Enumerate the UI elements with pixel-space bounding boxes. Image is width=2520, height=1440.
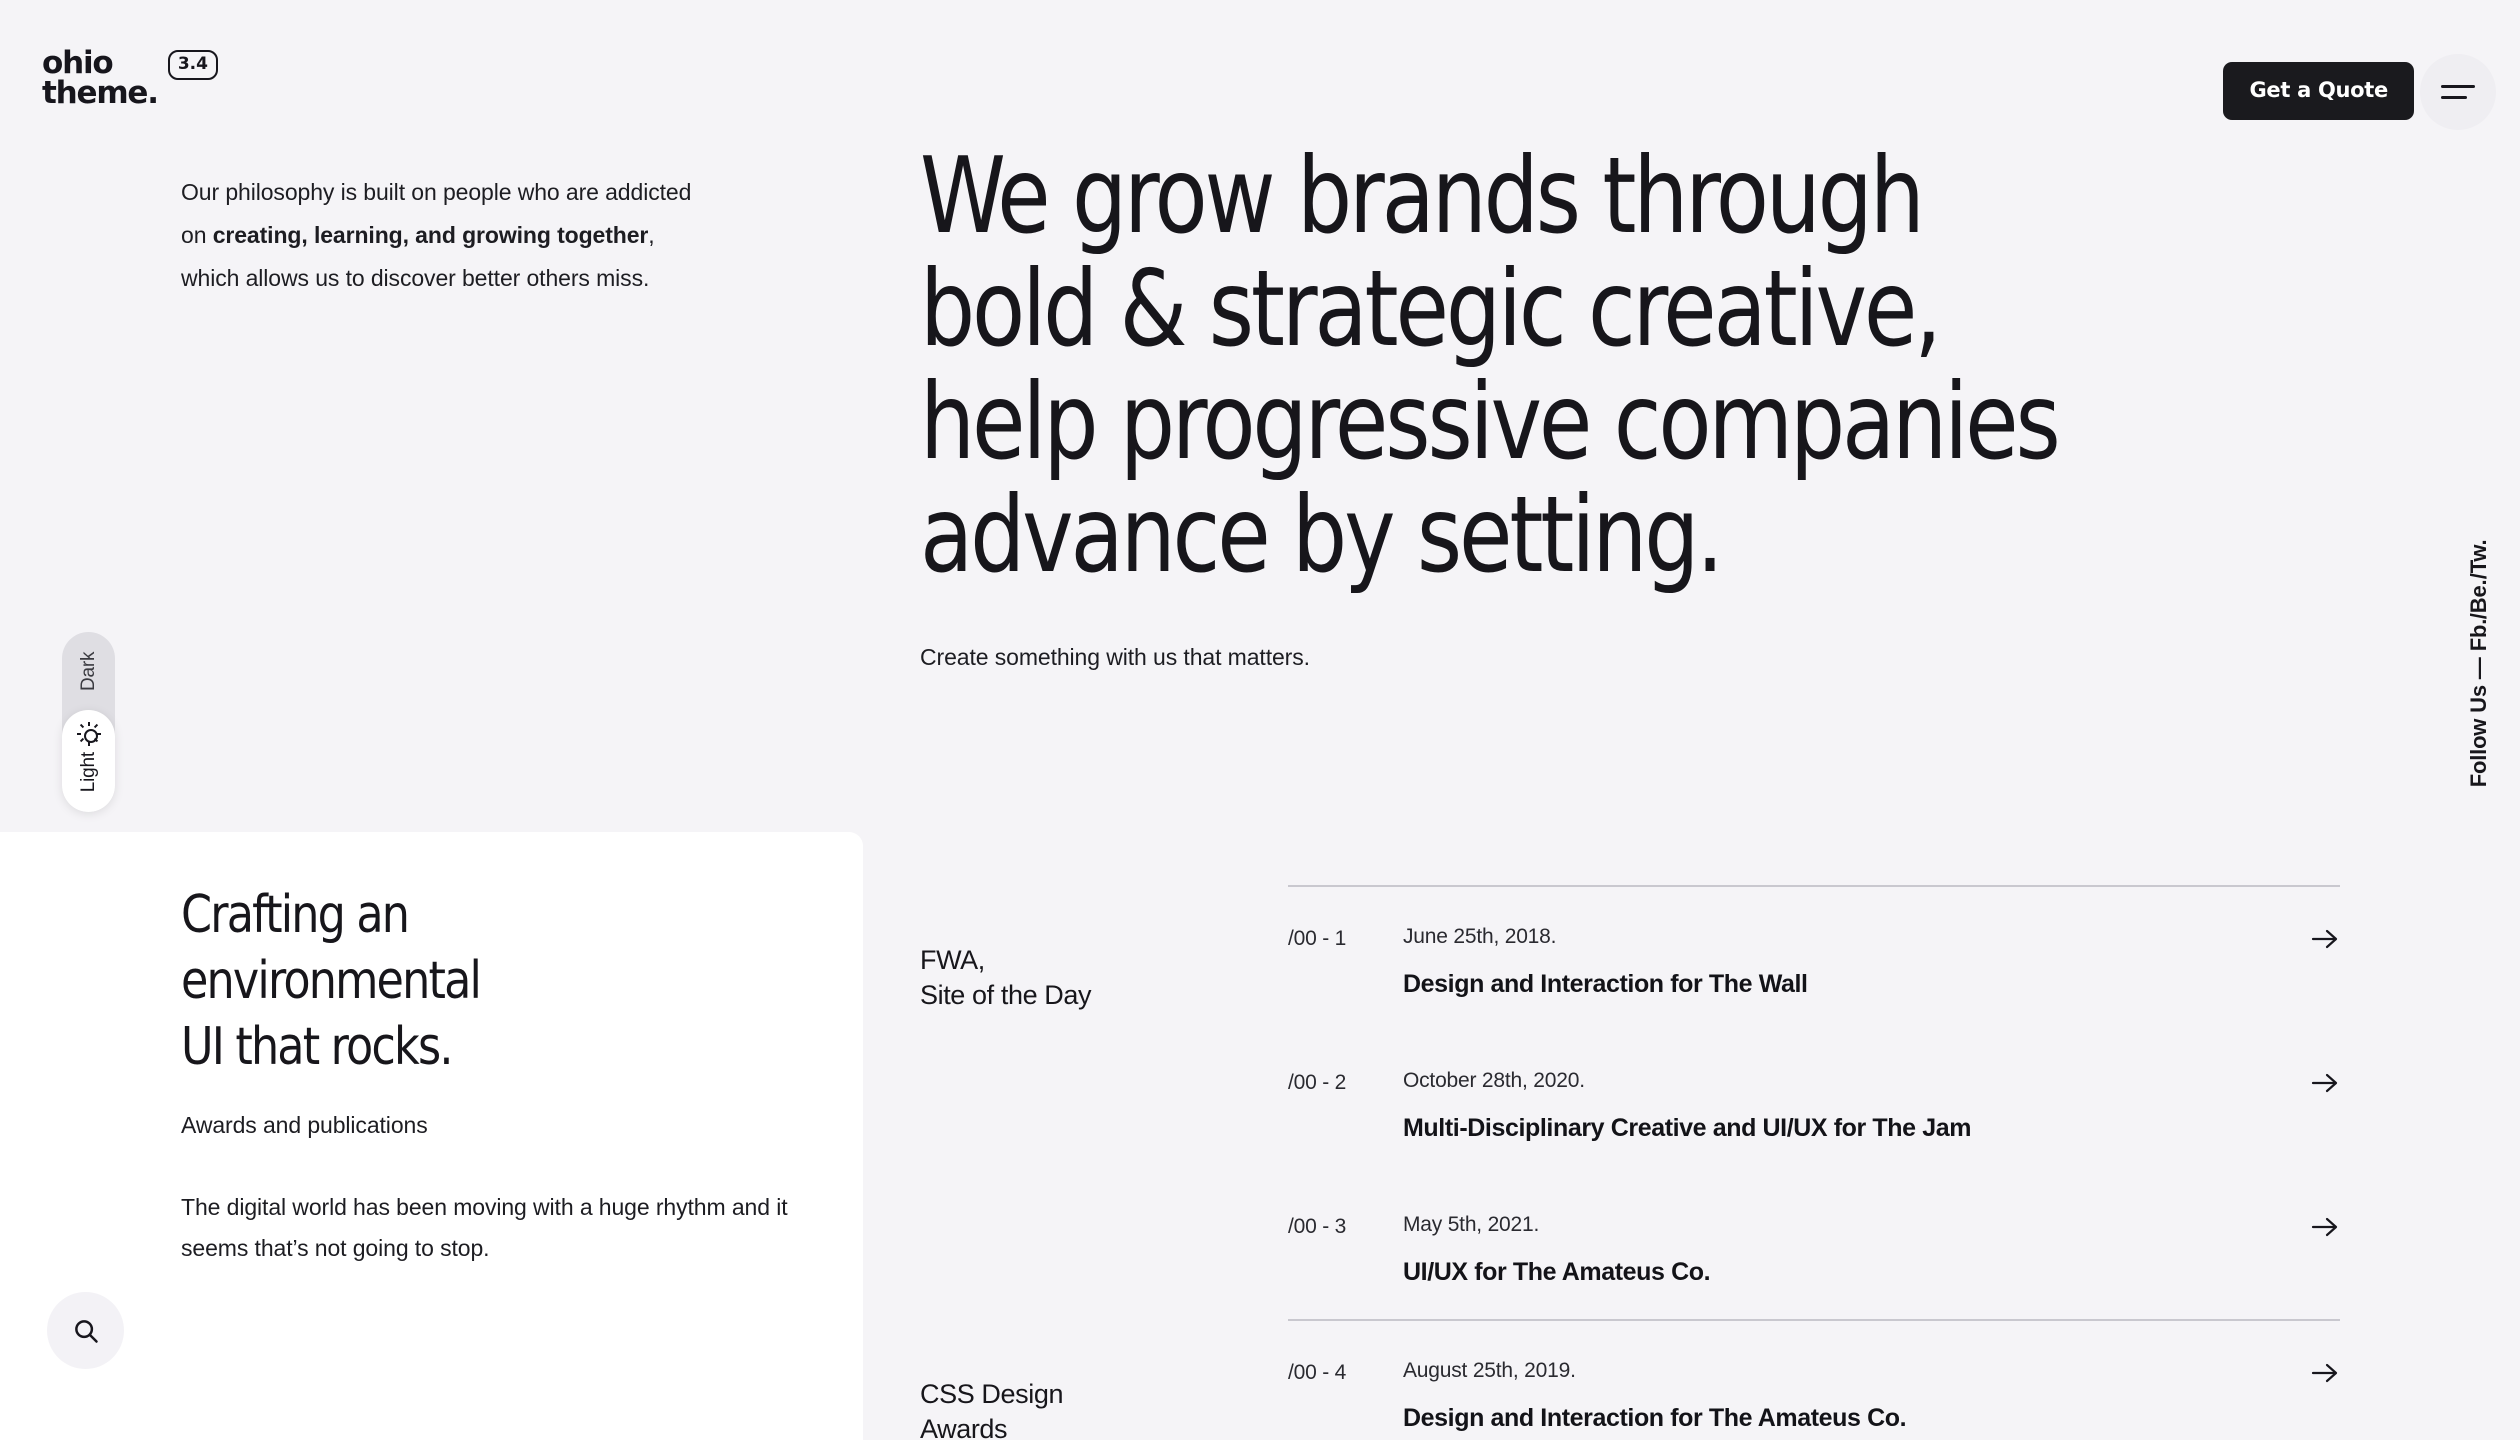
arrow-right-icon[interactable] — [2280, 925, 2340, 951]
hamburger-menu-icon[interactable] — [2420, 54, 2496, 130]
hero-headline: We grow brands through bold & strategic … — [920, 140, 2245, 592]
site-header: ohio theme. 3.4 Get a Quote — [0, 0, 2520, 145]
theme-toggle-knob[interactable]: Light — [62, 710, 115, 812]
get-a-quote-button[interactable]: Get a Quote — [2223, 62, 2414, 120]
award-date: May 5th, 2021. — [1403, 1213, 2280, 1237]
hero-line-2: bold & strategic creative, — [920, 253, 2245, 366]
logo-line-1: ohio — [42, 48, 158, 78]
philosophy-text-bold: creating, learning, and growing together — [213, 222, 649, 248]
menu-line-bottom — [2441, 96, 2467, 99]
page-root: ohio theme. 3.4 Get a Quote Our philosop… — [0, 0, 2520, 1440]
award-content: May 5th, 2021. UI/UX for The Amateus Co. — [1403, 1213, 2280, 1287]
award-content: June 25th, 2018. Design and Interaction … — [1403, 925, 2280, 999]
arrow-glyph — [2310, 1361, 2340, 1385]
search-icon[interactable] — [47, 1292, 124, 1369]
arrow-glyph — [2310, 1215, 2340, 1239]
theme-toggle-light-label[interactable]: Light — [78, 752, 100, 792]
hero-section: We grow brands through bold & strategic … — [920, 140, 2360, 671]
award-content: August 25th, 2019. Design and Interactio… — [1403, 1359, 2280, 1433]
award-title: Multi-Disciplinary Creative and UI/UX fo… — [1403, 1114, 2280, 1143]
social-link-behance[interactable]: Be. — [2466, 580, 2492, 614]
hero-line-3: help progressive companies — [920, 366, 2245, 479]
social-separator-1: / — [2466, 613, 2492, 619]
award-index: /00 - 1 — [1288, 925, 1403, 951]
award-title: UI/UX for The Amateus Co. — [1403, 1258, 2280, 1287]
menu-line-top — [2441, 85, 2475, 88]
version-badge: 3.4 — [168, 50, 218, 80]
arrow-right-icon[interactable] — [2280, 1359, 2340, 1385]
arrow-glyph — [2310, 1071, 2340, 1095]
awards-intro-subtitle: Awards and publications — [181, 1112, 801, 1139]
awards-list: FWA, Site of the Day /00 - 1 June 25th, … — [920, 885, 2340, 1440]
award-index: /00 - 2 — [1288, 1069, 1403, 1095]
award-index: /00 - 4 — [1288, 1359, 1403, 1385]
theme-toggle-dark-label[interactable]: Dark — [78, 632, 100, 710]
award-date: October 28th, 2020. — [1403, 1069, 2280, 1093]
arrow-right-icon[interactable] — [2280, 1213, 2340, 1239]
arrow-right-icon[interactable] — [2280, 1069, 2340, 1095]
award-group-label-line-2: Awards — [920, 1412, 1270, 1440]
award-group-rows: /00 - 4 August 25th, 2019. Design and In… — [1288, 1319, 2340, 1440]
award-group: FWA, Site of the Day /00 - 1 June 25th, … — [920, 885, 2340, 1319]
awards-intro-panel: Crafting an environmental UI that rocks.… — [0, 832, 863, 1440]
award-group-label: FWA, Site of the Day — [920, 943, 1270, 1013]
social-separator-2: / — [2466, 574, 2492, 580]
award-index: /00 - 3 — [1288, 1213, 1403, 1239]
social-link-facebook[interactable]: Fb. — [2466, 619, 2492, 651]
award-title: Design and Interaction for The Amateus C… — [1403, 1404, 2280, 1433]
theme-toggle[interactable]: Dark Light — [62, 632, 115, 812]
award-row[interactable]: /00 - 4 August 25th, 2019. Design and In… — [1288, 1321, 2340, 1440]
awards-intro-heading-line-3: UI that rocks. — [181, 1014, 770, 1080]
awards-intro-heading: Crafting an environmental UI that rocks. — [181, 882, 770, 1080]
award-row[interactable]: /00 - 3 May 5th, 2021. UI/UX for The Ama… — [1288, 1175, 2340, 1319]
award-date: June 25th, 2018. — [1403, 925, 2280, 949]
social-follow-bar: Follow Us — Fb. / Be. / Tw. — [2466, 540, 2492, 787]
award-title: Design and Interaction for The Wall — [1403, 970, 2280, 999]
award-group-label: CSS Design Awards — [920, 1377, 1270, 1440]
hero-line-1: We grow brands through — [920, 140, 2245, 253]
social-link-twitter[interactable]: Tw. — [2466, 540, 2492, 574]
follow-us-label: Follow Us — — [2466, 657, 2492, 787]
award-row[interactable]: /00 - 1 June 25th, 2018. Design and Inte… — [1288, 887, 2340, 1031]
hero-line-4: advance by setting. — [920, 479, 2245, 592]
philosophy-paragraph: Our philosophy is built on people who ar… — [181, 171, 701, 300]
awards-intro-heading-line-2: environmental — [181, 948, 770, 1014]
award-group-label-line-1: FWA, — [920, 943, 1270, 978]
social-spacer-1 — [2466, 652, 2492, 658]
hero-subtitle: Create something with us that matters. — [920, 644, 2360, 671]
awards-intro-body: The digital world has been moving with a… — [181, 1187, 801, 1269]
awards-intro-content: Crafting an environmental UI that rocks.… — [181, 882, 801, 1269]
award-group-label-line-1: CSS Design — [920, 1377, 1270, 1412]
logo-line-2: theme. — [42, 78, 158, 108]
logo-wordmark: ohio theme. — [42, 48, 158, 109]
site-logo[interactable]: ohio theme. 3.4 — [42, 48, 218, 109]
award-date: August 25th, 2019. — [1403, 1359, 2280, 1383]
award-group-label-line-2: Site of the Day — [920, 978, 1270, 1013]
arrow-glyph — [2310, 927, 2340, 951]
award-row[interactable]: /00 - 2 October 28th, 2020. Multi-Discip… — [1288, 1031, 2340, 1175]
award-content: October 28th, 2020. Multi-Disciplinary C… — [1403, 1069, 2280, 1143]
award-group: CSS Design Awards /00 - 4 August 25th, 2… — [920, 1319, 2340, 1440]
search-glyph — [71, 1316, 101, 1346]
sun-icon — [77, 722, 101, 746]
award-group-rows: /00 - 1 June 25th, 2018. Design and Inte… — [1288, 885, 2340, 1319]
awards-intro-heading-line-1: Crafting an — [181, 882, 770, 948]
